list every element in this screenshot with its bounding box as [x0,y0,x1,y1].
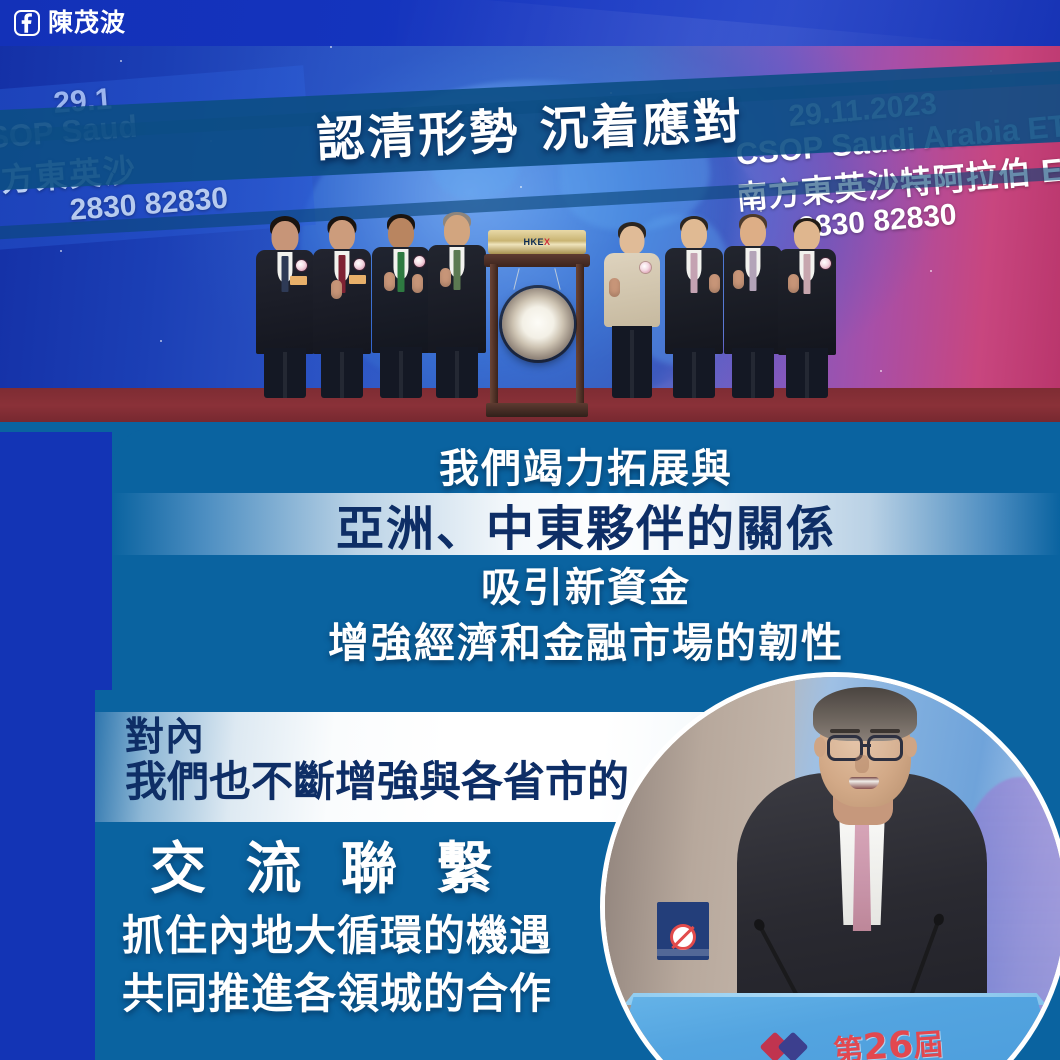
glasses-icon [867,735,903,761]
edition-number: 26 [862,1024,915,1060]
message-top-highlight: 亞洲、中東夥伴的關係 [336,489,836,559]
speaker-ear [905,737,917,757]
attendee [604,222,660,398]
gong-post [490,264,498,404]
message-top-line1-wrap: 我們竭力拓展與 [112,437,1060,493]
gong-post [576,264,584,404]
ceremony-photo: 29.1 CSOP Saud 南方東英沙 2830 82830 29.11.20… [0,0,1060,432]
edition-prefix: 第 [832,1033,864,1060]
attendee [778,218,836,398]
edition-label: 第26屆 [832,1019,945,1060]
message-bottom-line5: 共同推進各領城的合作 [122,969,552,1018]
speaker-photo-circle: 北京 · 香港 第26屆 THE 26TH 北京·香港經濟合作研討洽談會 BEI… [600,672,1060,1060]
message-top-highlight-band: 亞洲、中東夥伴的關係 [112,493,1060,555]
speaker-eyebrow [870,729,900,733]
gong-plaque: HKEX [488,230,586,254]
symposium-logo-icon: 北京 · 香港 [760,1033,824,1060]
brand-name: 陳茂波 [48,10,126,37]
attendee [372,214,430,398]
speaker-eyebrow [830,729,860,733]
left-blue-stripe [0,432,95,1060]
message-top-line3: 吸引新資金 [481,555,691,613]
message-bottom-line4: 抓住內地大循環的機遇 [122,911,552,960]
attendee [665,216,723,398]
speaker-hair [813,687,917,741]
message-top-line1: 我們竭力拓展與 [439,436,733,494]
message-top-line3-wrap: 吸引新資金 [112,556,1060,612]
message-top-line4: 增強經濟和金融市場的韌性 [328,609,844,669]
no-smoking-sign-icon [657,902,709,960]
message-top-line4-wrap: 增強經濟和金融市場的韌性 [112,610,1060,668]
message-bottom-line4-wrap: 抓住內地大循環的機遇 [122,902,552,963]
attendee [724,214,782,398]
gong-base [486,403,588,417]
attendee [428,212,486,398]
gong-disc [502,288,574,360]
message-bottom-highlight-wrap: 交 流 聯 繫 [150,824,503,905]
hkex-gong: HKEX [482,222,592,417]
message-bottom-line1: 對內 [125,718,629,758]
glasses-bridge [863,744,871,747]
attendee [256,216,314,398]
social-media-poster: 29.1 CSOP Saud 南方東英沙 2830 82830 29.11.20… [0,0,1060,1060]
gong-rope [513,268,519,290]
speaker-mouth [849,777,879,789]
brand-header-bar: 陳茂波 [0,0,1060,46]
message-bottom-line5-wrap: 共同推進各領城的合作 [122,960,552,1021]
hkex-logo: HKEX [523,237,550,247]
message-bottom-highlight: 交 流 聯 繫 [150,837,503,902]
speaker-ear [814,737,826,757]
attendee [313,216,371,398]
gong-beam [484,254,590,267]
speaker-photo: 北京 · 香港 第26屆 THE 26TH 北京·香港經濟合作研討洽談會 BEI… [600,672,1060,1060]
speaker-nose [855,755,869,773]
message-bottom-line2: 我們也不斷增強與各省市的 [125,758,629,806]
gong-rope [554,268,560,290]
facebook-icon[interactable] [14,10,40,36]
edition-suffix: 屆 [912,1027,944,1060]
podium-banner: 北京 · 香港 第26屆 THE 26TH 北京·香港經濟合作研討洽談會 BEI… [605,1021,1060,1060]
